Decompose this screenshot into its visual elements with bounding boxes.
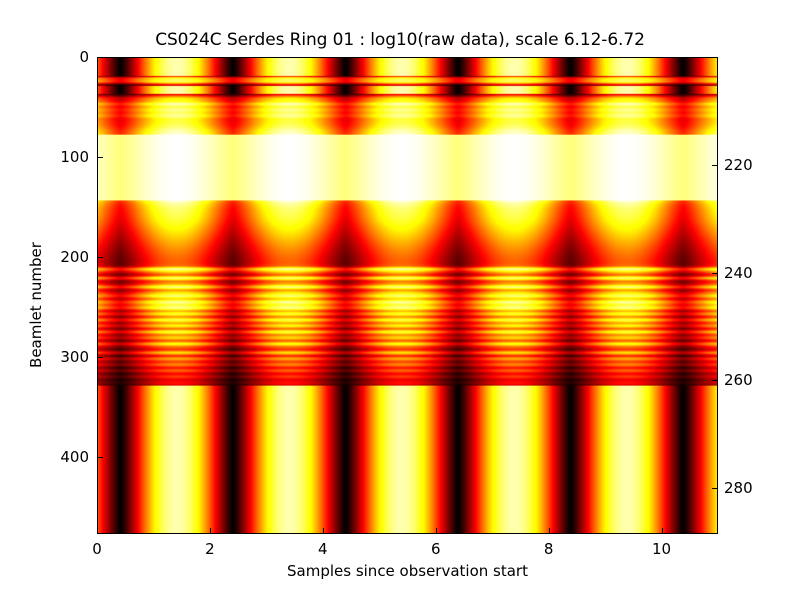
heatmap-axes[interactable] <box>97 57 718 534</box>
ytick-right-280-label: 280 <box>724 479 794 497</box>
xtick-4-mark <box>323 528 324 534</box>
figure-canvas: CS024C Serdes Ring 01 : log10(raw data),… <box>0 0 800 600</box>
ytick-left-0-label: 0 <box>29 48 89 66</box>
xtick-6-label: 6 <box>406 540 466 558</box>
xtick-8-label: 8 <box>519 540 579 558</box>
ytick-right-220-label: 220 <box>724 156 794 174</box>
xtick-2-label: 2 <box>180 540 240 558</box>
y-axis-label-left: Beamlet number <box>27 195 45 415</box>
x-axis-label: Samples since observation start <box>97 562 718 580</box>
ytick-left-400-mark <box>97 457 103 458</box>
ytick-right-260-label: 260 <box>724 371 794 389</box>
ytick-left-100-label: 100 <box>29 148 89 166</box>
ytick-left-200-mark <box>97 257 103 258</box>
ytick-left-300-mark <box>97 357 103 358</box>
xtick-0-label: 0 <box>67 540 127 558</box>
ytick-left-300-label: 300 <box>29 348 89 366</box>
ytick-right-240-label: 240 <box>724 264 794 282</box>
ytick-right-280-mark <box>712 488 718 489</box>
xtick-6-mark <box>436 528 437 534</box>
ytick-left-400-label: 400 <box>29 448 89 466</box>
ytick-right-260-mark <box>712 380 718 381</box>
ytick-left-0-mark <box>97 57 103 58</box>
ytick-right-240-mark <box>712 273 718 274</box>
ytick-right-220-mark <box>712 165 718 166</box>
xtick-10-label: 10 <box>632 540 692 558</box>
xtick-0-mark <box>97 528 98 534</box>
ytick-left-200-label: 200 <box>29 248 89 266</box>
xtick-10-mark <box>662 528 663 534</box>
heatmap-image <box>98 58 717 533</box>
xtick-8-mark <box>549 528 550 534</box>
ytick-left-100-mark <box>97 157 103 158</box>
chart-title: CS024C Serdes Ring 01 : log10(raw data),… <box>0 30 800 50</box>
xtick-2-mark <box>210 528 211 534</box>
xtick-4-label: 4 <box>293 540 353 558</box>
